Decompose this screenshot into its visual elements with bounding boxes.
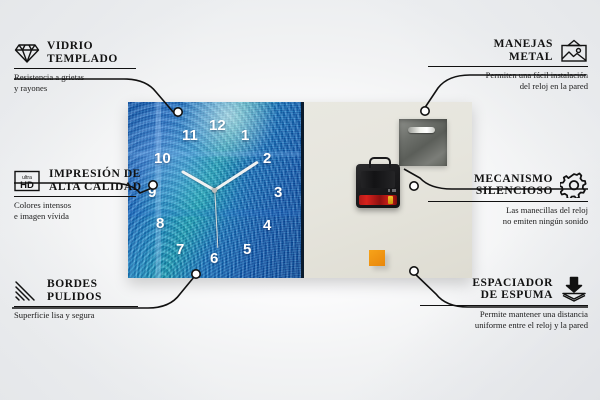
callout-sub-line1: Superficie lisa y segura — [14, 310, 154, 321]
clock-numeral-11: 11 — [182, 128, 198, 143]
callout-title-line2: PULIDOS — [47, 291, 102, 304]
clock-numeral-10: 10 — [154, 151, 171, 166]
battery — [359, 195, 397, 205]
callout-title-block: MECANISMO SILENCIOSO — [474, 173, 553, 198]
clock-numeral-3: 3 — [274, 185, 282, 200]
callout-mecanismo-silencioso[interactable]: MECANISMO SILENCIOSO Las manecillas del … — [428, 172, 588, 226]
clock-face-panel: 12 1 2 3 4 5 6 7 8 9 10 11 — [128, 102, 304, 278]
movement-body-detail — [361, 171, 395, 188]
callout-impresion-alta-calidad[interactable]: ultra HD IMPRESIÓN DE ALTA CALIDAD Color… — [14, 168, 154, 221]
clock-numeral-6: 6 — [210, 251, 218, 266]
callout-title-block: BORDES PULIDOS — [47, 278, 102, 303]
callout-title-block: MANEJAS METAL — [494, 38, 553, 63]
callout-title-block: IMPRESIÓN DE ALTA CALIDAD — [49, 168, 142, 193]
gear-icon — [560, 172, 588, 198]
callout-title-line2: SILENCIOSO — [474, 185, 553, 198]
diamond-icon — [14, 42, 40, 64]
svg-text:HD: HD — [20, 180, 34, 191]
movement-hanger-loop — [369, 157, 391, 168]
callout-sub-line2: y rayones — [14, 83, 144, 94]
callout-manejas-metal[interactable]: MANEJAS METAL Permiten una fácil instala… — [428, 38, 588, 91]
callout-title-line1: MANEJAS — [494, 38, 553, 51]
clock-numeral-7: 7 — [176, 242, 184, 257]
callout-title-block: VIDRIO TEMPLADO — [47, 40, 118, 65]
callout-rule — [14, 306, 138, 307]
clock-numeral-8: 8 — [156, 216, 164, 231]
arrow-down-onto-stack-icon — [560, 276, 588, 302]
callout-header: ESPACIADOR DE ESPUMA — [420, 276, 588, 302]
ultra-hd-icon: ultra HD — [14, 170, 42, 192]
callout-rule — [420, 305, 588, 306]
callout-title-line1: ESPACIADOR — [472, 277, 553, 290]
callout-espaciador-de-espuma[interactable]: ESPACIADOR DE ESPUMA Permite mantener un… — [420, 276, 588, 330]
callout-sub-line1: Colores intensos — [14, 200, 154, 211]
callout-header: MANEJAS METAL — [428, 38, 588, 63]
callout-title-line2: METAL — [494, 51, 553, 64]
clock-numeral-2: 2 — [263, 151, 271, 166]
callout-sub-line2: del reloj en la pared — [428, 81, 588, 92]
foam-spacer — [369, 250, 385, 266]
callout-sub-line1: Resistencia a grietas — [14, 72, 144, 83]
clock-numeral-12: 12 — [209, 118, 226, 133]
callout-rule — [14, 196, 136, 197]
picture-frame-hanger-icon — [560, 39, 588, 63]
callout-header: MECANISMO SILENCIOSO — [428, 172, 588, 198]
callout-vidrio-templado[interactable]: VIDRIO TEMPLADO Resistencia a grietas y … — [14, 40, 144, 93]
callout-sub-line1: Permiten una fácil instalación — [428, 70, 588, 81]
callout-title-line2: ALTA CALIDAD — [49, 181, 142, 194]
callout-title-line1: IMPRESIÓN DE — [49, 168, 142, 181]
clock-movement — [356, 164, 400, 208]
callout-rule — [428, 66, 588, 67]
callout-sub-line2: no emiten ningún sonido — [428, 216, 588, 227]
callout-sub-line2: uniforme entre el reloj y la pared — [420, 320, 588, 331]
callout-title-line2: DE ESPUMA — [472, 289, 553, 302]
infographic-canvas: 12 1 2 3 4 5 6 7 8 9 10 11 — [0, 0, 600, 400]
movement-contacts — [388, 189, 396, 192]
callout-sub-line1: Las manecillas del reloj — [428, 205, 588, 216]
callout-title-block: ESPACIADOR DE ESPUMA — [472, 277, 553, 302]
callout-header: BORDES PULIDOS — [14, 278, 154, 303]
callout-header: VIDRIO TEMPLADO — [14, 40, 144, 65]
callout-sub-line2: e imagen vívida — [14, 211, 154, 222]
clock-numeral-5: 5 — [243, 242, 251, 257]
callout-rule — [14, 68, 136, 69]
callout-title-line1: MECANISMO — [474, 173, 553, 186]
product-photo: 12 1 2 3 4 5 6 7 8 9 10 11 — [128, 102, 472, 278]
clock-numeral-4: 4 — [263, 218, 271, 233]
callout-title-line1: BORDES — [47, 278, 102, 291]
metal-hanger-plate — [399, 119, 447, 166]
callout-title-line2: TEMPLADO — [47, 53, 118, 66]
hanger-slot — [408, 127, 435, 133]
callout-rule — [428, 201, 588, 202]
diagonal-lines-icon — [14, 280, 40, 302]
callout-title-line1: VIDRIO — [47, 40, 118, 53]
callout-bordes-pulidos[interactable]: BORDES PULIDOS Superficie lisa y segura — [14, 278, 154, 321]
clock-center-cap — [212, 188, 217, 193]
clock-numeral-1: 1 — [241, 128, 249, 143]
callout-sub-line1: Permite mantener una distancia — [420, 309, 588, 320]
callout-header: ultra HD IMPRESIÓN DE ALTA CALIDAD — [14, 168, 154, 193]
